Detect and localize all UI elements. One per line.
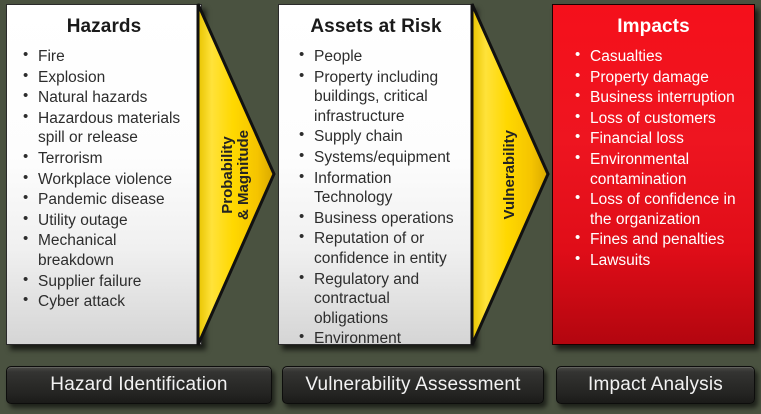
stage-bar-impact-analysis: Impact Analysis — [556, 366, 755, 404]
panel-assets-list: People Property including buildings, cri… — [279, 47, 473, 345]
stage-bar-hazard-identification: Hazard Identification — [6, 366, 272, 404]
list-item: Financial loss — [575, 129, 746, 149]
list-item: Lawsuits — [575, 251, 746, 271]
list-item: Systems/equipment — [299, 148, 465, 168]
list-item: Hazardous materials spill or release — [23, 109, 193, 148]
panel-impacts: Impacts Casualties Property damage Busin… — [552, 4, 755, 345]
panel-hazards: Hazards Fire Explosion Natural hazards H… — [6, 4, 202, 345]
list-item: Business operations — [299, 209, 465, 229]
list-item: Natural hazards — [23, 88, 193, 108]
stage-bar-impact-analysis-label: Impact Analysis — [588, 374, 723, 396]
panel-impacts-title: Impacts — [553, 16, 754, 38]
list-item: Mechanical breakdown — [23, 231, 193, 270]
risk-assessment-diagram: Hazards Fire Explosion Natural hazards H… — [0, 0, 761, 414]
list-item: Casualties — [575, 47, 746, 67]
list-item: Reputation of or confidence in entity — [299, 229, 465, 268]
panel-hazards-title: Hazards — [7, 16, 201, 38]
list-item: Workplace violence — [23, 170, 193, 190]
stage-bar-vulnerability-assessment: Vulnerability Assessment — [282, 366, 544, 404]
chevron-right-icon — [470, 2, 550, 347]
arrow-vulnerability: Vulnerability — [470, 2, 550, 347]
panel-assets-at-risk: Assets at Risk People Property including… — [278, 4, 474, 345]
list-item: Cyber attack — [23, 292, 193, 312]
stage-bar-vulnerability-assessment-label: Vulnerability Assessment — [305, 374, 520, 396]
panel-hazards-list: Fire Explosion Natural hazards Hazardous… — [7, 47, 201, 312]
panel-impacts-list: Casualties Property damage Business inte… — [553, 47, 754, 271]
chevron-right-icon — [196, 2, 276, 347]
list-item: Loss of confidence in the organization — [575, 190, 746, 229]
list-item: Information Technology — [299, 169, 465, 208]
arrow-probability-magnitude: Probability & Magnitude — [196, 2, 276, 347]
list-item: Fire — [23, 47, 193, 67]
list-item: Loss of customers — [575, 109, 746, 129]
list-item: People — [299, 47, 465, 67]
list-item: Supplier failure — [23, 272, 193, 292]
list-item: Property damage — [575, 68, 746, 88]
list-item: Regulatory and contractual obligations — [299, 270, 465, 329]
list-item: Environment — [299, 329, 465, 345]
list-item: Environmental contamination — [575, 150, 746, 189]
list-item: Utility outage — [23, 211, 193, 231]
list-item: Business interruption — [575, 88, 746, 108]
list-item: Supply chain — [299, 127, 465, 147]
list-item: Property including buildings, critical i… — [299, 68, 465, 127]
list-item: Pandemic disease — [23, 190, 193, 210]
list-item: Fines and penalties — [575, 230, 746, 250]
list-item: Explosion — [23, 68, 193, 88]
list-item: Terrorism — [23, 149, 193, 169]
panel-assets-title: Assets at Risk — [279, 16, 473, 38]
stage-bar-hazard-identification-label: Hazard Identification — [50, 374, 227, 396]
